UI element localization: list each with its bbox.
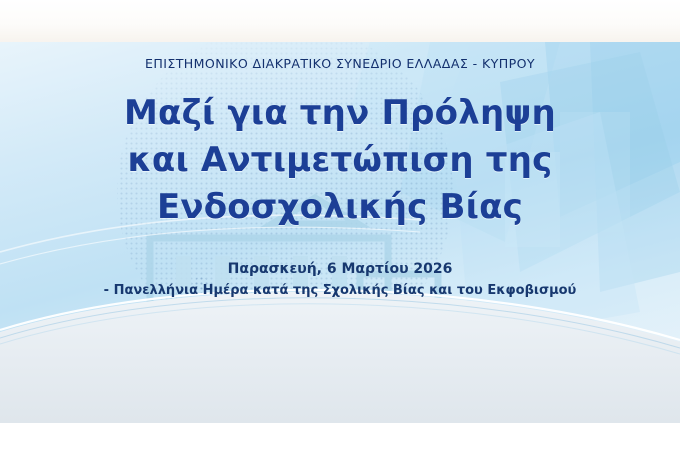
slide-text-layer: ΕΠΙΣΤΗΜΟΝΙΚΟ ΔΙΑΚΡΑΤΙΚΟ ΣΥΝΕΔΡΙΟ ΕΛΛΑΔΑΣ… (0, 42, 680, 423)
conference-kicker: ΕΠΙΣΤΗΜΟΝΙΚΟ ΔΙΑΚΡΑΤΙΚΟ ΣΥΝΕΔΡΙΟ ΕΛΛΑΔΑΣ… (0, 56, 680, 71)
presentation-slide: ΕΠΙΣΤΗΜΟΝΙΚΟ ΔΙΑΚΡΑΤΙΚΟ ΣΥΝΕΔΡΙΟ ΕΛΛΑΔΑΣ… (0, 0, 680, 460)
title-line-3: Ενδοσχολικής Βίας (0, 190, 680, 224)
slide-top-band (0, 0, 680, 43)
footer-logo-strip: ΕΛΛΗΝΙΚΗ ΔΗΜΟΚΡΑΤΙΑ Υπουργείο Παιδείας, … (0, 385, 680, 423)
title-line-2: και Αντιμετώπιση της (0, 143, 680, 177)
title-line-1: Μαζί για την Πρόληψη (0, 96, 680, 130)
event-subtitle: - Πανελλήνια Ημέρα κατά της Σχολικής Βία… (0, 283, 680, 298)
event-date: Παρασκευή, 6 Μαρτίου 2026 (0, 261, 680, 277)
